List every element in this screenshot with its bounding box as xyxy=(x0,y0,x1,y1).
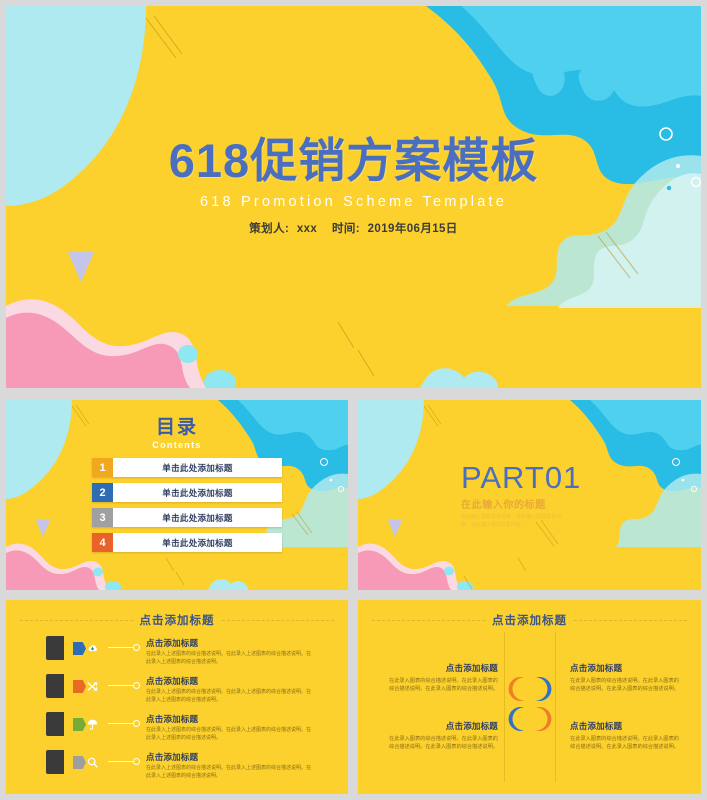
hero-subtitle: 618 Promotion Scheme Template xyxy=(6,194,701,210)
toc-item-number: 1 xyxy=(92,458,113,477)
part-subtitle: 在此输入你的标题 xyxy=(461,496,581,511)
half-ring-top-right xyxy=(530,676,556,702)
arrow-body xyxy=(64,750,108,774)
toc-item-number: 2 xyxy=(92,483,113,502)
part-text-block: PART01 在此输入你的标题 在此输入您的文本内容，在此输入您的文本内容，在此… xyxy=(461,462,581,529)
arrow-text: 点击添加标题 在此录入上述图表的综合描述说明。在此录入上述图表的综合描述说明。在… xyxy=(142,636,311,667)
toc-item-label: 单击此处添加标题 xyxy=(113,533,282,552)
section-title: 点击添加标题 xyxy=(140,612,215,628)
arrow-tag xyxy=(46,674,108,698)
arrow-text: 点击添加标题 在此录入上述图表的综合描述说明。在此录入上述图表的综合描述说明。在… xyxy=(142,712,311,743)
connector-dot xyxy=(133,644,140,651)
list-item[interactable]: 1 单击此处添加标题 xyxy=(92,458,282,477)
umbrella-icon xyxy=(86,718,99,731)
half-ring-bottom-right xyxy=(530,706,556,732)
planner-value: xxx xyxy=(297,223,317,235)
slide-quadrant-rings[interactable]: 点击添加标题 点击添加标题 xyxy=(358,600,701,794)
quadrant-item[interactable]: 点击添加标题 在此录入图表的综合描述说明。在此录入图表的综合描述说明。在此录入图… xyxy=(388,662,498,694)
planner-label: 策划人: xyxy=(249,223,289,235)
page-title: 618促销方案模板 xyxy=(6,136,701,185)
arrow-text: 点击添加标题 在此录入上述图表的综合描述说明。在此录入上述图表的综合描述说明。在… xyxy=(142,750,311,781)
divider-left xyxy=(20,620,133,621)
arrow-body xyxy=(64,636,108,660)
item-description: 在此录入上述图表的综合描述说明。在此录入上述图表的综合描述说明。在此录入上述图表… xyxy=(146,727,311,743)
item-description: 在此录入上述图表的综合描述说明。在此录入上述图表的综合描述说明。在此录入上述图表… xyxy=(146,651,311,667)
arrow-tab xyxy=(46,636,64,660)
connector xyxy=(108,674,142,698)
arrow-text: 点击添加标题 在此录入上述图表的综合描述说明。在此录入上述图表的综合描述说明。在… xyxy=(142,674,311,705)
item-title: 点击添加标题 xyxy=(146,751,311,763)
item-title: 点击添加标题 xyxy=(388,720,498,732)
arrow-tag xyxy=(46,712,108,736)
toc-heading-en: Contents xyxy=(6,440,348,450)
toc-item-label: 单击此处添加标题 xyxy=(113,508,282,527)
connector xyxy=(108,712,142,736)
item-description: 在此录入图表的综合描述说明。在此录入图表的综合描述说明。在此录入图表的综合描述说… xyxy=(388,677,498,694)
search-icon xyxy=(86,756,99,769)
part-body-text: 在此输入您的文本内容，在此输入您的文本内容，在此输入您的文本内容 xyxy=(461,514,569,529)
part-title: PART01 xyxy=(461,462,581,493)
toc-item-label: 单击此处添加标题 xyxy=(113,458,282,477)
hero-byline: 策划人: xxx 时间: 2019年06月15日 xyxy=(6,220,701,236)
item-title: 点击添加标题 xyxy=(146,637,311,649)
list-item[interactable]: 2 单击此处添加标题 xyxy=(92,483,282,502)
slide-arrow-list[interactable]: 点击添加标题 xyxy=(6,600,348,794)
toc-item-number: 4 xyxy=(92,533,113,552)
slide-deck: 618促销方案模板 618 Promotion Scheme Template … xyxy=(0,0,707,800)
list-item[interactable]: 点击添加标题 在此录入上述图表的综合描述说明。在此录入上述图表的综合描述说明。在… xyxy=(46,636,336,674)
item-title: 点击添加标题 xyxy=(570,720,680,732)
arrow-tab xyxy=(46,712,64,736)
item-description: 在此录入图表的综合描述说明。在此录入图表的综合描述说明。在此录入图表的综合描述说… xyxy=(388,735,498,752)
connector-dot xyxy=(133,682,140,689)
hero-text-block: 618促销方案模板 618 Promotion Scheme Template … xyxy=(6,136,701,236)
connector-dot xyxy=(133,758,140,765)
center-rings xyxy=(504,632,556,782)
arrow-item-list: 点击添加标题 在此录入上述图表的综合描述说明。在此录入上述图表的综合描述说明。在… xyxy=(46,636,336,788)
section-header: 点击添加标题 xyxy=(20,612,334,628)
connector xyxy=(108,636,142,660)
item-description: 在此录入图表的综合描述说明。在此录入图表的综合描述说明。在此录入图表的综合描述说… xyxy=(570,735,680,752)
toc-heading: 目录 Contents xyxy=(6,412,348,450)
quadrant-layout: 点击添加标题 在此录入图表的综合描述说明。在此录入图表的综合描述说明。在此录入图… xyxy=(358,600,701,794)
cloud-download-icon xyxy=(86,642,99,655)
arrow-tag xyxy=(46,750,108,774)
date-label: 时间: xyxy=(332,223,360,235)
list-item[interactable]: 点击添加标题 在此录入上述图表的综合描述说明。在此录入上述图表的综合描述说明。在… xyxy=(46,674,336,712)
quadrant-item[interactable]: 点击添加标题 在此录入图表的综合描述说明。在此录入图表的综合描述说明。在此录入图… xyxy=(570,662,680,694)
divider-right xyxy=(222,620,335,621)
half-ring-top-left xyxy=(504,676,530,702)
toc-item-label: 单击此处添加标题 xyxy=(113,483,282,502)
list-item[interactable]: 点击添加标题 在此录入上述图表的综合描述说明。在此录入上述图表的综合描述说明。在… xyxy=(46,712,336,750)
slide-title[interactable]: 618促销方案模板 618 Promotion Scheme Template … xyxy=(6,6,701,388)
quadrant-item[interactable]: 点击添加标题 在此录入图表的综合描述说明。在此录入图表的综合描述说明。在此录入图… xyxy=(388,720,498,752)
list-item[interactable]: 点击添加标题 在此录入上述图表的综合描述说明。在此录入上述图表的综合描述说明。在… xyxy=(46,750,336,788)
half-ring-bottom-left xyxy=(504,706,530,732)
connector-dot xyxy=(133,720,140,727)
date-value: 2019年06月15日 xyxy=(368,223,458,235)
item-title: 点击添加标题 xyxy=(146,675,311,687)
slide-section-divider[interactable]: PART01 在此输入你的标题 在此输入您的文本内容，在此输入您的文本内容，在此… xyxy=(358,400,701,590)
slide-contents[interactable]: 目录 Contents 1 单击此处添加标题 2 单击此处添加标题 3 单击此处… xyxy=(6,400,348,590)
arrow-tab xyxy=(46,674,64,698)
item-description: 在此录入上述图表的综合描述说明。在此录入上述图表的综合描述说明。在此录入上述图表… xyxy=(146,689,311,705)
arrow-body xyxy=(64,712,108,736)
item-title: 点击添加标题 xyxy=(146,713,311,725)
toc-list: 1 单击此处添加标题 2 单击此处添加标题 3 单击此处添加标题 4 单击此处添… xyxy=(92,458,282,558)
toc-item-number: 3 xyxy=(92,508,113,527)
quadrant-item[interactable]: 点击添加标题 在此录入图表的综合描述说明。在此录入图表的综合描述说明。在此录入图… xyxy=(570,720,680,752)
item-description: 在此录入上述图表的综合描述说明。在此录入上述图表的综合描述说明。在此录入上述图表… xyxy=(146,765,311,781)
arrow-tag xyxy=(46,636,108,660)
item-title: 点击添加标题 xyxy=(388,662,498,674)
item-description: 在此录入图表的综合描述说明。在此录入图表的综合描述说明。在此录入图表的综合描述说… xyxy=(570,677,680,694)
list-item[interactable]: 3 单击此处添加标题 xyxy=(92,508,282,527)
item-title: 点击添加标题 xyxy=(570,662,680,674)
arrow-tab xyxy=(46,750,64,774)
list-item[interactable]: 4 单击此处添加标题 xyxy=(92,533,282,552)
arrow-body xyxy=(64,674,108,698)
shuffle-icon xyxy=(86,680,99,693)
toc-heading-cn: 目录 xyxy=(6,412,348,439)
connector xyxy=(108,750,142,774)
